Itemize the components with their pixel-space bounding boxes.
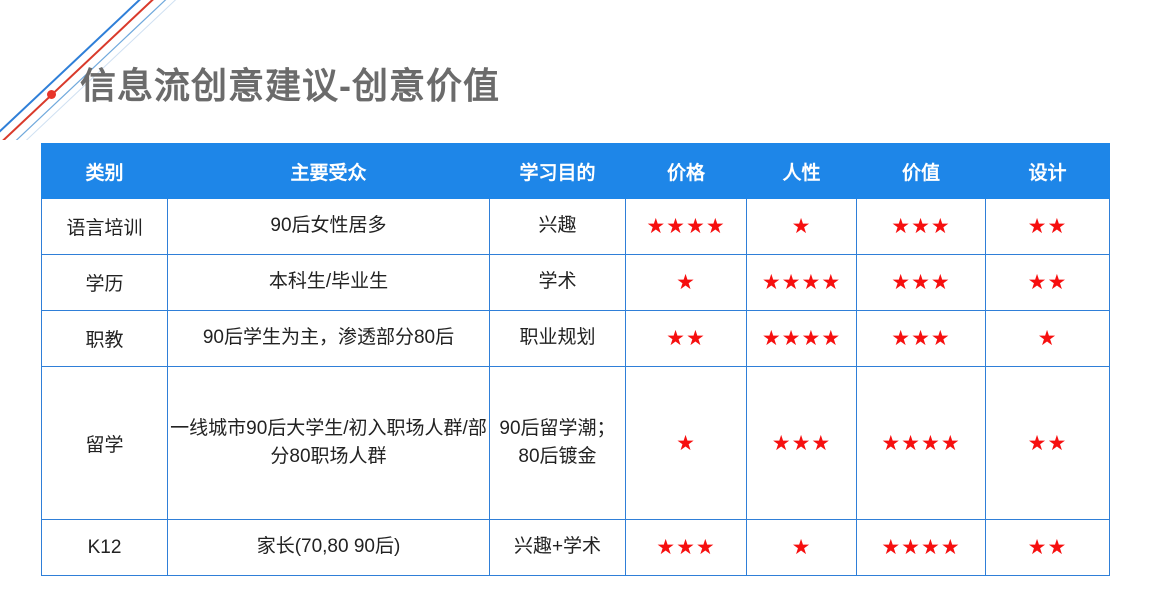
cell-design-rating: ★ bbox=[986, 311, 1110, 367]
cell-price-rating: ★★ bbox=[626, 311, 747, 367]
column-header-design: 设计 bbox=[986, 144, 1110, 199]
cell-humanity-rating: ★★★★ bbox=[747, 311, 857, 367]
table-row: 语言培训 90后女性居多 兴趣 ★★★★ ★ ★★★ ★★ bbox=[42, 199, 1110, 255]
cell-purpose: 兴趣 bbox=[490, 199, 626, 255]
creative-value-table: 类别 主要受众 学习目的 价格 人性 价值 设计 语言培训 90后女性居多 兴趣… bbox=[41, 143, 1110, 576]
cell-audience: 90后女性居多 bbox=[168, 199, 490, 255]
cell-value-rating: ★★★ bbox=[857, 199, 986, 255]
creative-value-table-wrapper: 类别 主要受众 学习目的 价格 人性 价值 设计 语言培训 90后女性居多 兴趣… bbox=[41, 143, 1109, 576]
cell-humanity-rating: ★★★★ bbox=[747, 255, 857, 311]
table-header-row: 类别 主要受众 学习目的 价格 人性 价值 设计 bbox=[42, 144, 1110, 199]
cell-purpose: 90后留学潮；80后镀金 bbox=[490, 367, 626, 520]
cell-value-rating: ★★★ bbox=[857, 311, 986, 367]
cell-design-rating: ★★ bbox=[986, 255, 1110, 311]
cell-design-rating: ★★ bbox=[986, 520, 1110, 576]
cell-category: K12 bbox=[42, 520, 168, 576]
cell-design-rating: ★★ bbox=[986, 367, 1110, 520]
column-header-category: 类别 bbox=[42, 144, 168, 199]
cell-audience: 家长(70,80 90后) bbox=[168, 520, 490, 576]
table-row: 学历 本科生/毕业生 学术 ★ ★★★★ ★★★ ★★ bbox=[42, 255, 1110, 311]
cell-price-rating: ★ bbox=[626, 367, 747, 520]
cell-category: 职教 bbox=[42, 311, 168, 367]
cell-audience: 本科生/毕业生 bbox=[168, 255, 490, 311]
cell-price-rating: ★★★★ bbox=[626, 199, 747, 255]
cell-price-rating: ★ bbox=[626, 255, 747, 311]
cell-humanity-rating: ★★★ bbox=[747, 367, 857, 520]
cell-price-rating: ★★★ bbox=[626, 520, 747, 576]
cell-humanity-rating: ★ bbox=[747, 199, 857, 255]
cell-humanity-rating: ★ bbox=[747, 520, 857, 576]
cell-category: 语言培训 bbox=[42, 199, 168, 255]
cell-audience: 90后学生为主，渗透部分80后 bbox=[168, 311, 490, 367]
cell-value-rating: ★★★ bbox=[857, 255, 986, 311]
column-header-audience: 主要受众 bbox=[168, 144, 490, 199]
cell-purpose: 职业规划 bbox=[490, 311, 626, 367]
cell-audience: 一线城市90后大学生/初入职场人群/部分80职场人群 bbox=[168, 367, 490, 520]
cell-purpose: 兴趣+学术 bbox=[490, 520, 626, 576]
table-row: 留学 一线城市90后大学生/初入职场人群/部分80职场人群 90后留学潮；80后… bbox=[42, 367, 1110, 520]
column-header-humanity: 人性 bbox=[747, 144, 857, 199]
cell-value-rating: ★★★★ bbox=[857, 367, 986, 520]
cell-category: 学历 bbox=[42, 255, 168, 311]
cell-design-rating: ★★ bbox=[986, 199, 1110, 255]
cell-value-rating: ★★★★ bbox=[857, 520, 986, 576]
page-title: 信息流创意建议-创意价值 bbox=[80, 57, 500, 109]
column-header-value: 价值 bbox=[857, 144, 986, 199]
table-row: K12 家长(70,80 90后) 兴趣+学术 ★★★ ★ ★★★★ ★★ bbox=[42, 520, 1110, 576]
column-header-price: 价格 bbox=[626, 144, 747, 199]
table-row: 职教 90后学生为主，渗透部分80后 职业规划 ★★ ★★★★ ★★★ ★ bbox=[42, 311, 1110, 367]
decorative-red-dot bbox=[47, 90, 56, 99]
cell-category: 留学 bbox=[42, 367, 168, 520]
cell-purpose: 学术 bbox=[490, 255, 626, 311]
column-header-purpose: 学习目的 bbox=[490, 144, 626, 199]
